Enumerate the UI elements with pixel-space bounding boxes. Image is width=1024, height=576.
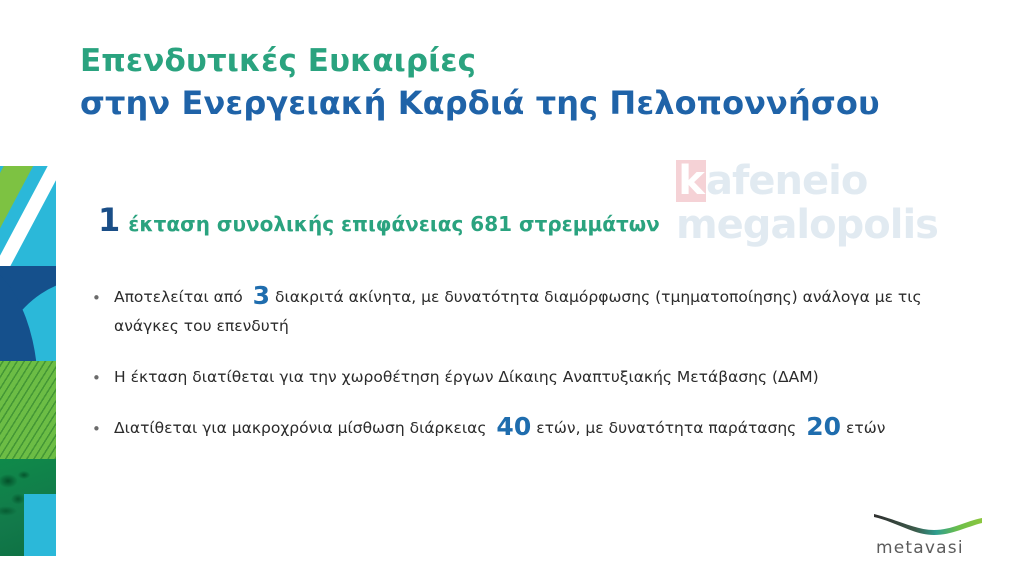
list-item: •Διατίθεται για μακροχρόνια μίσθωση διάρ… (92, 414, 954, 443)
metavasi-swoosh-icon (872, 508, 984, 538)
kafeneio-logo-line-1: k afeneio (676, 160, 938, 202)
headline-stat-text: έκταση συνολικής επιφάνειας 681 στρεμμάτ… (128, 214, 659, 234)
bullet-list: •Αποτελείται από 3διακριτά ακίνητα, με δ… (92, 283, 954, 465)
strip-panel-blue-wave (0, 266, 56, 361)
metavasi-wordmark: metavasi (876, 538, 964, 558)
hatch-line-pattern (0, 361, 56, 459)
bullet-dot-icon: • (92, 363, 114, 386)
text-segment: ετών, με δυνατότητα παράτασης (536, 419, 796, 437)
list-item-text: Η έκταση διατίθεται για την χωροθέτηση έ… (114, 363, 954, 392)
title-line-2: στην Ενεργειακή Καρδιά της Πελοποννήσου (80, 82, 940, 124)
cyan-accent-square (24, 494, 56, 556)
text-segment: ετών (846, 419, 885, 437)
page-title: Επενδυτικές Ευκαιρίες στην Ενεργειακή Κα… (80, 40, 940, 124)
left-decorative-strip (0, 166, 56, 556)
list-item: •Η έκταση διατίθεται για την χωροθέτηση … (92, 363, 954, 392)
highlighted-number: 20 (801, 412, 846, 441)
list-item-text: Αποτελείται από 3διακριτά ακίνητα, με δυ… (114, 283, 954, 341)
presentation-slide: Επενδυτικές Ευκαιρίες στην Ενεργειακή Κα… (0, 0, 1024, 576)
highlighted-number: 40 (491, 412, 536, 441)
list-item-text: Διατίθεται για μακροχρόνια μίσθωση διάρκ… (114, 414, 954, 443)
text-segment: Η έκταση διατίθεται για την χωροθέτηση έ… (114, 368, 819, 386)
kafeneio-initial-box: k (676, 160, 706, 202)
kafeneio-megalopolis-logo: k afeneio megalopolis (676, 160, 938, 246)
strip-panel-diagonal-stripes (0, 166, 56, 266)
list-item: •Αποτελείται από 3διακριτά ακίνητα, με δ… (92, 283, 954, 341)
megalopolis-wordmark: megalopolis (676, 204, 938, 246)
metavasi-swoosh-path (874, 514, 982, 535)
metavasi-logo: metavasi (872, 508, 984, 560)
bullet-dot-icon: • (92, 283, 114, 306)
text-segment: Διατίθεται για μακροχρόνια μίσθωση διάρκ… (114, 419, 486, 437)
strip-panel-green-hatch (0, 361, 56, 459)
headline-stat: 1 έκταση συνολικής επιφάνειας 681 στρεμμ… (98, 204, 660, 236)
bullet-dot-icon: • (92, 414, 114, 437)
strip-panel-dark-green (0, 459, 56, 556)
text-segment: Αποτελείται από (114, 288, 243, 306)
highlighted-number: 3 (248, 281, 275, 310)
title-line-1: Επενδυτικές Ευκαιρίες (80, 40, 940, 82)
headline-stat-number: 1 (98, 204, 120, 236)
kafeneio-wordmark-rest: afeneio (706, 160, 867, 202)
